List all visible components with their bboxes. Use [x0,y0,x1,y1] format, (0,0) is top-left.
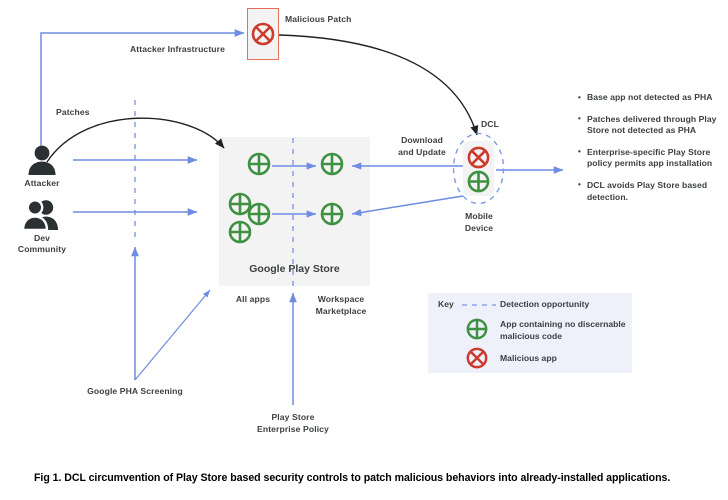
outcome-item: DCL avoids Play Store based detection. [578,180,726,203]
benign-app-icon [466,318,488,345]
patches-curve-arrow [47,118,224,162]
workspace-marketplace-label-line2: Marketplace [303,306,379,318]
outcome-item: Enterprise-specific Play Store policy pe… [578,147,726,170]
attacker-infrastructure-label: Attacker Infrastructure [130,44,225,56]
figure-caption: Fig 1. DCL circumvention of Play Store b… [34,472,724,484]
attacker-avatar [24,144,60,181]
pha-screening-to-allapps-arrow [135,290,210,380]
benign-app-icon [320,202,344,231]
benign-app-icon [247,152,271,181]
enterprise-policy-label-line1: Play Store [235,412,351,424]
download-and-update-label-line1: Download [378,135,466,147]
dev-community-label-line1: Dev [3,233,81,245]
google-pha-screening-label: Google PHA Screening [60,386,210,398]
dcl-edge-label: DCL [481,119,499,131]
legend-label-benign-app: App containing no discernable malicious … [500,319,635,342]
dev-community-avatar [22,199,64,236]
google-play-store-title: Google Play Store [219,263,370,275]
mobile-device-label-line1: Mobile [443,211,515,223]
mobile-device-label-line2: Device [443,223,515,235]
outcome-item: Patches delivered through Play Store not… [578,114,726,137]
malicious-app-icon [466,347,488,374]
diagram-canvas: Attacker Dev Community Attacker Infrastr… [0,0,728,500]
attacker-label: Attacker [3,178,81,190]
benign-app-icon [467,170,490,198]
malicious-patch-label: Malicious Patch [285,14,351,26]
malicious-app-icon [251,22,275,51]
legend-title: Key [438,299,454,309]
benign-app-icon [320,152,344,181]
enterprise-policy-label-line2: Enterprise Policy [235,424,351,436]
all-apps-label: All apps [219,294,287,306]
legend-label-detection-opportunity: Detection opportunity [500,299,589,309]
legend-label-malicious-app: Malicious app [500,353,557,363]
malicious-patch-to-device-curve [279,35,477,135]
outcome-item: Base app not detected as PHA [578,92,726,104]
dev-community-label-line2: Community [3,244,81,256]
benign-app-icon [228,220,252,249]
patches-edge-label: Patches [56,107,90,119]
outcomes-list: Base app not detected as PHA Patches del… [578,92,726,213]
download-and-update-label-line2: and Update [378,147,466,159]
workspace-marketplace-label-line1: Workspace [303,294,379,306]
legend-dashed-line-icon [462,301,496,309]
